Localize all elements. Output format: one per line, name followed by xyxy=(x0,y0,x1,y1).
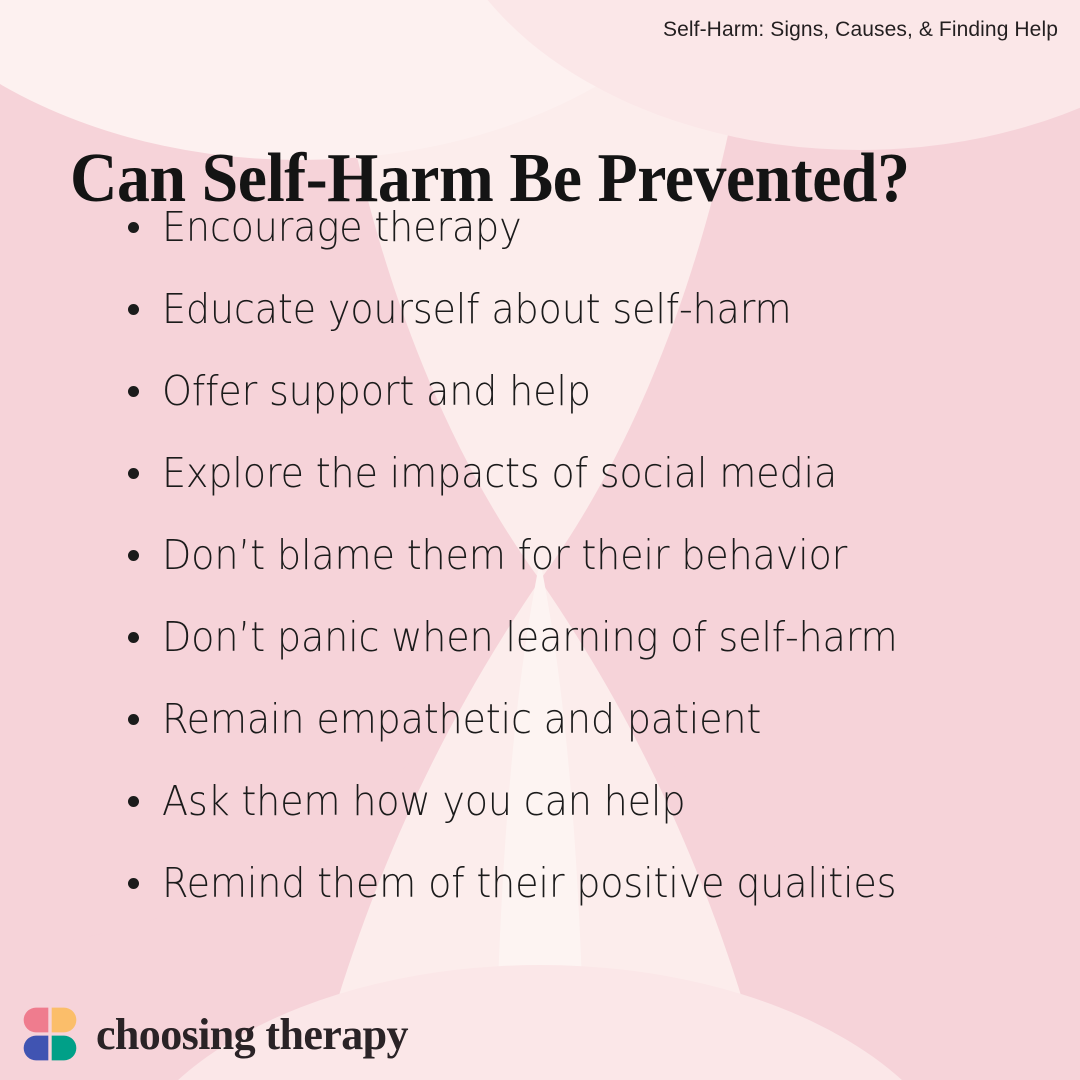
list-item-label: Explore the impacts of social media xyxy=(162,432,967,514)
bullet-dot-icon xyxy=(128,468,139,479)
list-item-label: Offer support and help xyxy=(162,350,967,432)
list-item-label: Don’t blame them for their behavior xyxy=(162,514,967,596)
bullet-dot-icon xyxy=(128,796,139,807)
list-item-label: Encourage therapy xyxy=(162,186,967,268)
list-item-label: Don’t panic when learning of self-harm xyxy=(162,596,967,678)
bullet-dot-icon xyxy=(128,222,139,233)
series-label: Self-Harm: Signs, Causes, & Finding Help xyxy=(663,18,1058,42)
list-item-label: Remain empathetic and patient xyxy=(162,678,967,760)
list-item: Remind them of their positive qualities xyxy=(128,842,1028,924)
social-card: Self-Harm: Signs, Causes, & Finding Help… xyxy=(0,0,1080,1080)
bullet-dot-icon xyxy=(128,304,139,315)
list-item-label: Ask them how you can help xyxy=(162,760,967,842)
list-item: Ask them how you can help xyxy=(128,760,1028,842)
bullet-dot-icon xyxy=(128,550,139,561)
list-item: Remain empathetic and patient xyxy=(128,678,1028,760)
logo-quadrant-amber xyxy=(52,1008,77,1033)
list-item-label: Educate yourself about self-harm xyxy=(162,268,967,350)
bullet-dot-icon xyxy=(128,714,139,725)
list-item: Explore the impacts of social media xyxy=(128,432,1028,514)
bullet-dot-icon xyxy=(128,386,139,397)
list-item: Educate yourself about self-harm xyxy=(128,268,1028,350)
list-item: Encourage therapy xyxy=(128,186,1028,268)
choosing-therapy-logo-icon xyxy=(22,1006,78,1062)
logo-quadrant-blue xyxy=(24,1036,49,1061)
list-item: Offer support and help xyxy=(128,350,1028,432)
brand-name: choosing therapy xyxy=(96,1009,408,1060)
bullet-dot-icon xyxy=(128,878,139,889)
brand-lockup: choosing therapy xyxy=(22,1006,408,1062)
list-item: Don’t panic when learning of self-harm xyxy=(128,596,1028,678)
logo-quadrant-teal xyxy=(52,1036,77,1061)
bullet-dot-icon xyxy=(128,632,139,643)
prevention-tips-list: Encourage therapy Educate yourself about… xyxy=(128,186,1028,924)
list-item: Don’t blame them for their behavior xyxy=(128,514,1028,596)
list-item-label: Remind them of their positive qualities xyxy=(162,842,967,924)
logo-quadrant-pink xyxy=(24,1008,49,1033)
